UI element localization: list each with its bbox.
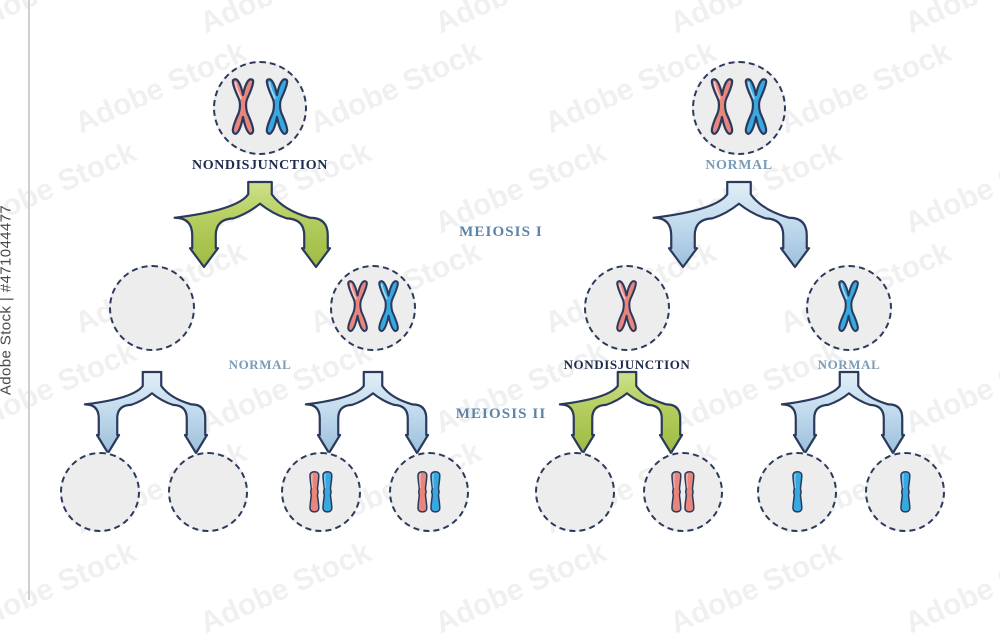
watermark-tile: Adobe Stock [195,0,376,41]
chromosome-pair-red-blue [226,78,294,139]
watermark-tile: Adobe Stock [540,35,721,141]
watermark-tile: Adobe Stock [665,0,846,41]
right-gamete-4 [865,452,945,532]
stage-label-meiosis-i: MEIOSIS I [459,224,543,241]
chromosome-pair-red-blue [705,78,773,139]
watermark-tile: Adobe Stock [0,535,141,641]
chromosome-single-red [611,280,642,336]
watermark-tile: Adobe Stock [665,535,846,641]
watermark-tile: Adobe Stock [0,0,141,41]
chromatid-single-blue [791,466,804,517]
right-daughter-2-meiosis-ii-arrow [765,368,933,458]
right-daughter-1 [584,265,670,351]
left-parent-cell [213,61,307,155]
right-daughter-1-meiosis-ii-arrow [543,368,711,458]
left-daughter-2 [330,265,416,351]
chromosome-pair-red-blue [342,280,404,336]
right-gamete-3 [757,452,837,532]
watermark-tile: Adobe Stock [0,135,141,241]
left-daughter-1-meiosis-ii-arrow [68,368,236,458]
left-daughter-2-meiosis-ii-arrow [289,368,457,458]
watermark-rule [28,0,30,600]
chromatid-pair-red-blue [416,466,442,517]
left-daughter-1 [109,265,195,351]
nondisjunction-in-meiosis-ii-meiosis-i-arrow [643,178,835,272]
right-gamete-2 [643,452,723,532]
left-daughter-2-label: NORMAL [229,357,292,373]
left-gamete-2 [168,452,248,532]
chromatid-single-blue [899,466,912,517]
chromatid-pair-red-blue [308,466,334,517]
watermark-tile: Adobe Stock [195,535,376,641]
right-daughter-2 [806,265,892,351]
stage-label-meiosis-ii: MEIOSIS II [456,406,547,423]
watermark-tile: Adobe Stock [430,0,611,41]
right-parent-cell [692,61,786,155]
diagram-canvas: Adobe StockAdobe StockAdobe StockAdobe S… [0,0,1000,600]
watermark-tile: Adobe Stock [775,35,956,141]
chromatid-pair-red-red [670,466,696,517]
watermark-tile: Adobe Stock [305,35,486,141]
watermark-tile: Adobe Stock [900,535,1000,641]
chromosome-single-blue [833,280,864,336]
right-gamete-1 [535,452,615,532]
watermark-tile: Adobe Stock [900,0,1000,41]
watermark-side-text: Adobe Stock | #471044477 [0,205,15,395]
watermark-tile: Adobe Stock [430,535,611,641]
watermark-tile: Adobe Stock [900,135,1000,241]
left-gamete-3 [281,452,361,532]
right-parent-cell-label: NORMAL [705,158,772,174]
left-gamete-1 [60,452,140,532]
left-gamete-4 [389,452,469,532]
left-parent-cell-label: NONDISJUNCTION [192,158,328,174]
nondisjunction-in-meiosis-i-meiosis-i-arrow [164,178,356,272]
